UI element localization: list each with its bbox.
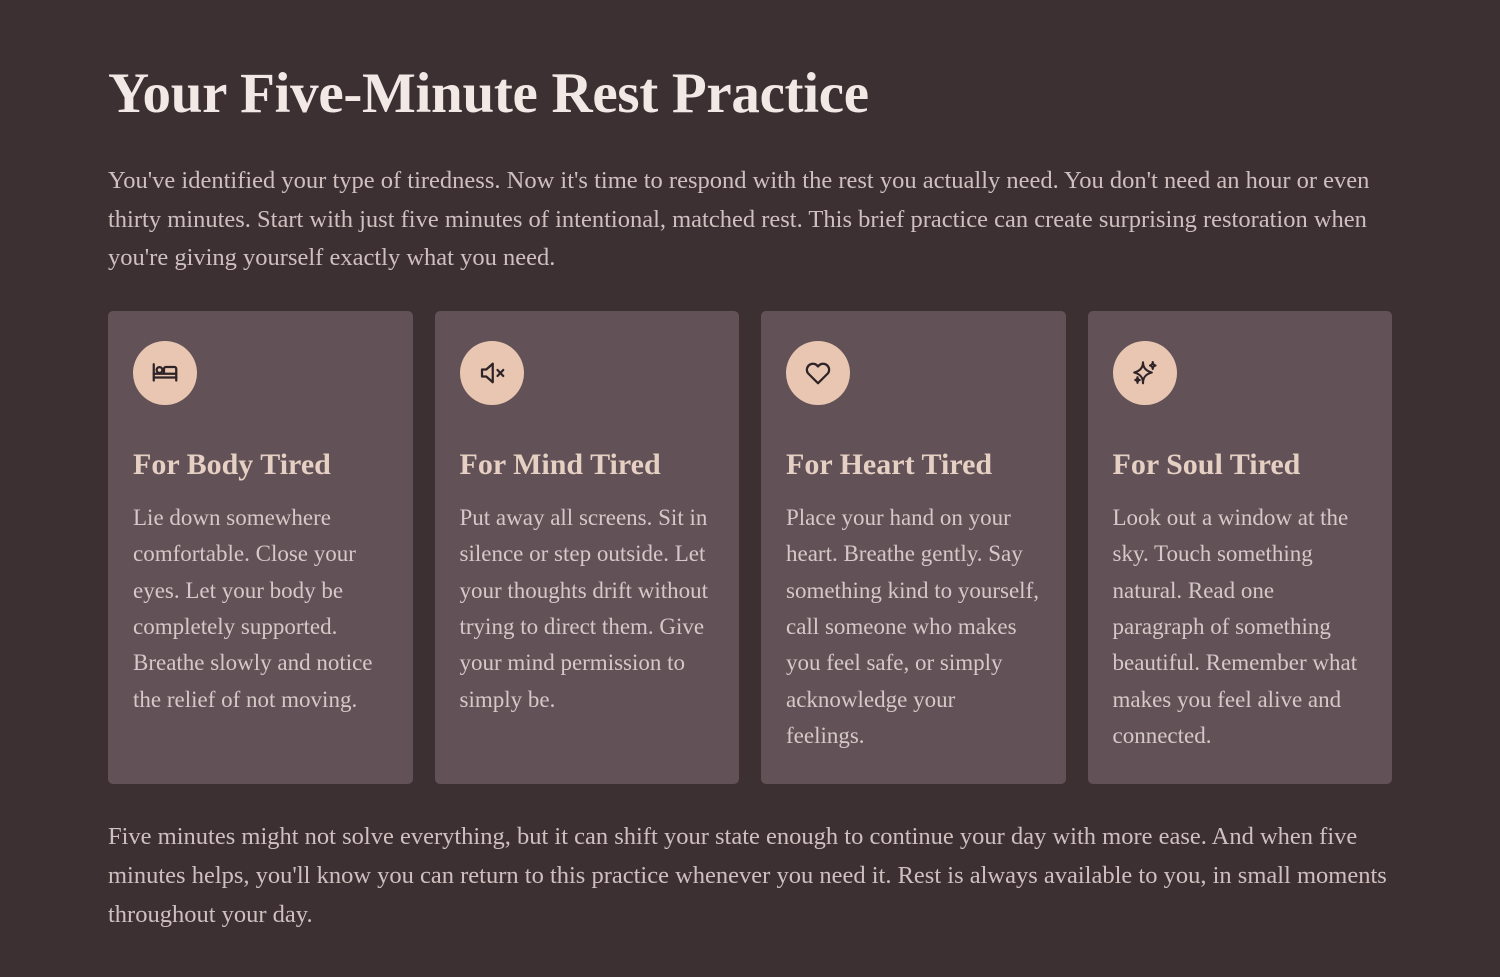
card-body-text: Place your hand on your heart. Breathe g…	[786, 483, 1040, 754]
card-heart-tired: For Heart Tired Place your hand on your …	[761, 311, 1066, 784]
card-heading: For Heart Tired	[786, 405, 1040, 483]
card-heading: For Body Tired	[133, 405, 387, 483]
card-body-text: Look out a window at the sky. Touch some…	[1113, 483, 1367, 754]
volume-mute-icon	[460, 341, 524, 405]
card-body-text: Put away all screens. Sit in silence or …	[460, 483, 714, 718]
card-body-text: Lie down somewhere comfortable. Close yo…	[133, 483, 387, 718]
sparkles-icon	[1113, 341, 1177, 405]
bed-icon	[133, 341, 197, 405]
card-body-tired: For Body Tired Lie down somewhere comfor…	[108, 311, 413, 784]
card-heading: For Soul Tired	[1113, 405, 1367, 483]
card-heading: For Mind Tired	[460, 405, 714, 483]
card-mind-tired: For Mind Tired Put away all screens. Sit…	[435, 311, 740, 784]
rest-practice-page: Your Five-Minute Rest Practice You've id…	[0, 0, 1500, 977]
closing-paragraph: Five minutes might not solve everything,…	[108, 784, 1392, 934]
heart-icon	[786, 341, 850, 405]
page-title: Your Five-Minute Rest Practice	[108, 0, 1392, 126]
intro-paragraph: You've identified your type of tiredness…	[108, 126, 1378, 278]
card-soul-tired: For Soul Tired Look out a window at the …	[1088, 311, 1393, 784]
rest-practice-cards: For Body Tired Lie down somewhere comfor…	[108, 311, 1392, 784]
